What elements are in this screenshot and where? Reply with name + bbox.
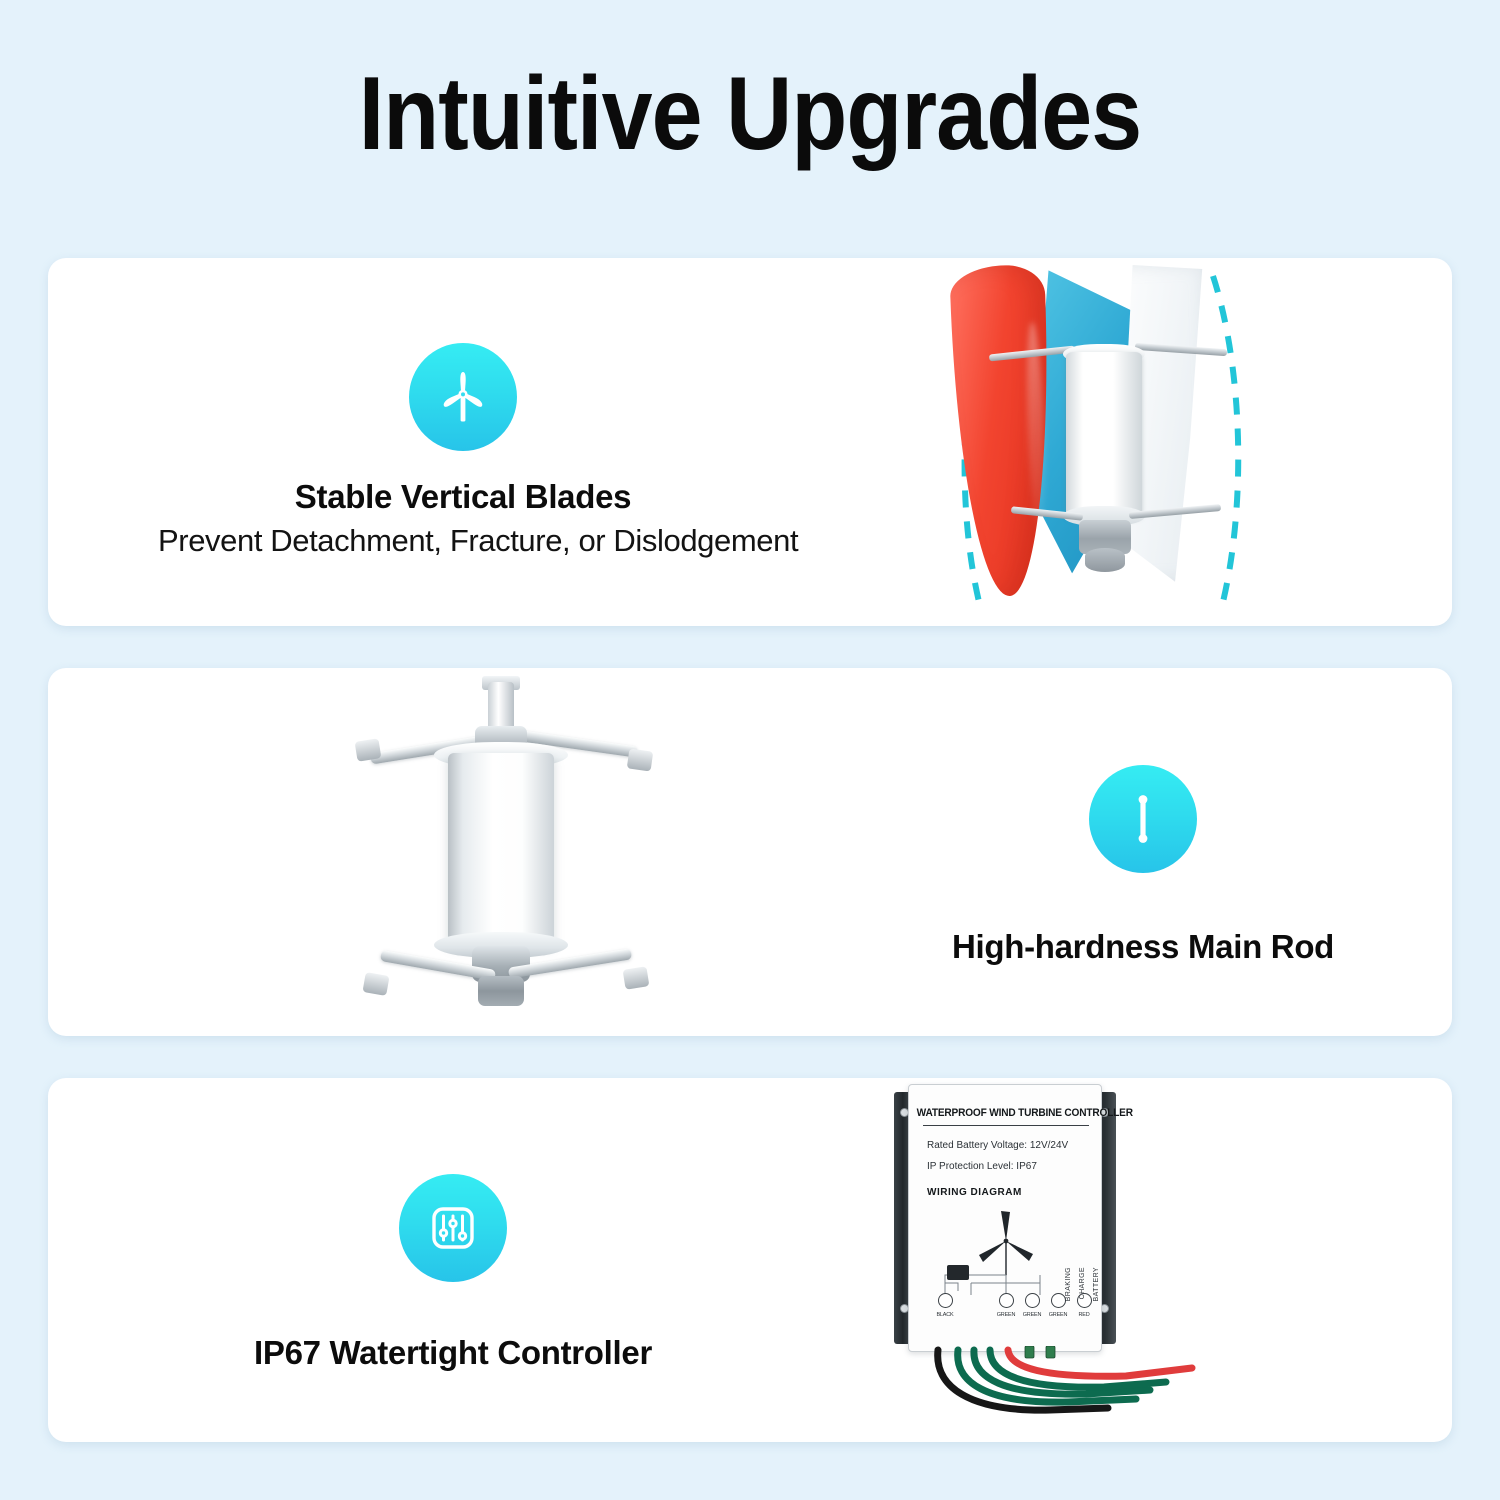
- feature-card-ip67-watertight-controller: IP67 Watertight Controller WATERPROOF WI…: [48, 1078, 1452, 1442]
- side-label-braking: BRAKING: [1065, 1267, 1072, 1301]
- terminal-green-3[interactable]: [1051, 1293, 1066, 1308]
- controller-wiring-diagram-label: WIRING DIAGRAM: [927, 1187, 1022, 1198]
- controller-spec-ip-level: IP Protection Level: IP67: [927, 1161, 1037, 1172]
- page-title: Intuitive Upgrades: [90, 58, 1410, 170]
- feature-text-block-1: Stable Vertical Blades Prevent Detachmen…: [158, 343, 768, 559]
- side-label-charge: CHARGE: [1079, 1267, 1086, 1299]
- terminal-label-red: RED: [1071, 1312, 1097, 1318]
- feature-card-high-hardness-main-rod: High-hardness Main Rod: [48, 668, 1452, 1036]
- feature-text-block-2: High-hardness Main Rod: [838, 765, 1448, 966]
- side-label-battery: BATTERY: [1093, 1267, 1100, 1301]
- terminal-label-green-3: GREEN: [1045, 1312, 1071, 1318]
- main-rod-assembly-image: [306, 668, 726, 1036]
- feature-text-block-3: IP67 Watertight Controller: [153, 1174, 753, 1372]
- vertical-turbine-image: [903, 258, 1323, 626]
- feature-card-stable-vertical-blades: Stable Vertical Blades Prevent Detachmen…: [48, 258, 1452, 626]
- controller-output-wires: [818, 1346, 1378, 1442]
- turbine-generator-body: [1066, 352, 1142, 518]
- controller-heading-rule: [923, 1125, 1089, 1126]
- feature-title-3: IP67 Watertight Controller: [153, 1334, 753, 1372]
- rod-arm-tip-bottom-right: [623, 966, 650, 990]
- controller-image: WATERPROOF WIND TURBINE CONTROLLER Rated…: [818, 1078, 1378, 1442]
- terminal-black[interactable]: [938, 1293, 953, 1308]
- terminal-green-1[interactable]: [999, 1293, 1014, 1308]
- rod-arm-tip-top-right: [627, 748, 654, 771]
- rod-base-mount: [478, 976, 524, 1006]
- feature-title-2: High-hardness Main Rod: [838, 928, 1448, 966]
- controller-heading: WATERPROOF WIND TURBINE CONTROLLER: [917, 1107, 1094, 1119]
- rod-arm-tip-bottom-left: [362, 972, 389, 996]
- terminal-label-green-1: GREEN: [993, 1312, 1019, 1318]
- controller-faceplate: WATERPROOF WIND TURBINE CONTROLLER Rated…: [908, 1084, 1102, 1352]
- wind-turbine-icon: [409, 343, 517, 451]
- terminal-label-black: BLACK: [932, 1312, 958, 1318]
- rod-arm-tip-top-left: [355, 738, 382, 762]
- terminal-label-green-2: GREEN: [1019, 1312, 1045, 1318]
- main-rod-icon: [1089, 765, 1197, 873]
- turbine-base-lower: [1085, 548, 1125, 572]
- terminal-green-2[interactable]: [1025, 1293, 1040, 1308]
- controller-spec-voltage: Rated Battery Voltage: 12V/24V: [927, 1140, 1068, 1151]
- feature-subtitle-1: Prevent Detachment, Fracture, or Dislodg…: [158, 523, 768, 559]
- controller-schematic-component-block: [947, 1265, 969, 1280]
- feature-title-1: Stable Vertical Blades: [158, 478, 768, 516]
- rod-generator-body: [448, 753, 554, 945]
- controller-sliders-icon: [399, 1174, 507, 1282]
